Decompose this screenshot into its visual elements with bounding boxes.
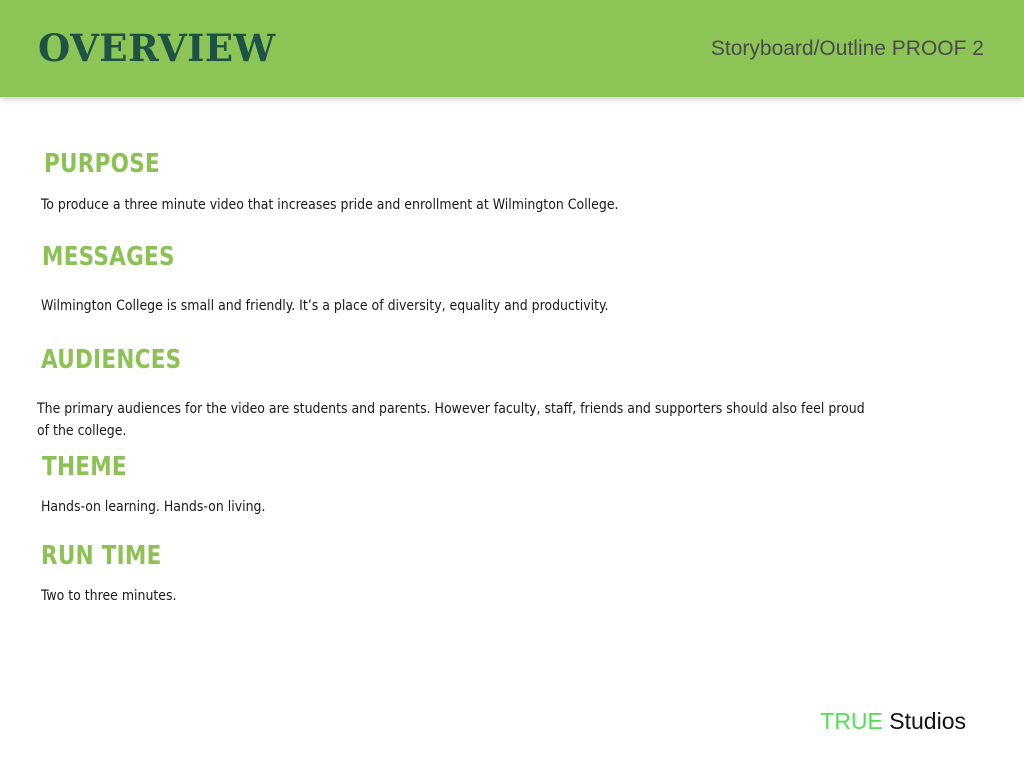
section-run-time: RUN TIME Two to three minutes.: [0, 541, 960, 607]
section-audiences: AUDIENCES The primary audiences for the …: [0, 345, 960, 442]
section-heading-purpose: PURPOSE: [44, 149, 887, 179]
section-body-theme: Hands-on learning. Hands-on living.: [41, 496, 923, 518]
slide-content: PURPOSE To produce a three minute video …: [0, 97, 1024, 768]
section-body-run-time: Two to three minutes.: [41, 585, 923, 607]
header-band: OVERVIEW Storyboard/Outline PROOF 2: [0, 0, 1024, 97]
section-body-audiences: The primary audiences for the video are …: [37, 398, 877, 442]
section-messages: MESSAGES Wilmington College is small and…: [0, 242, 960, 317]
section-heading-theme: THEME: [42, 452, 887, 482]
slide-overview: OVERVIEW Storyboard/Outline PROOF 2 PURP…: [0, 0, 1024, 768]
section-purpose: PURPOSE To produce a three minute video …: [0, 149, 960, 216]
page-title: OVERVIEW: [38, 26, 276, 70]
footer-logo: TRUE Studios: [820, 708, 966, 735]
section-theme: THEME Hands-on learning. Hands-on living…: [0, 452, 960, 518]
logo-studios-text: Studios: [889, 708, 966, 734]
section-heading-messages: MESSAGES: [42, 242, 887, 272]
section-heading-audiences: AUDIENCES: [41, 345, 886, 375]
section-body-messages: Wilmington College is small and friendly…: [41, 295, 923, 317]
section-body-purpose: To produce a three minute video that inc…: [41, 194, 923, 216]
logo-true-text: TRUE: [820, 708, 883, 734]
section-heading-run-time: RUN TIME: [41, 541, 886, 571]
header-subtitle: Storyboard/Outline PROOF 2: [711, 36, 984, 62]
